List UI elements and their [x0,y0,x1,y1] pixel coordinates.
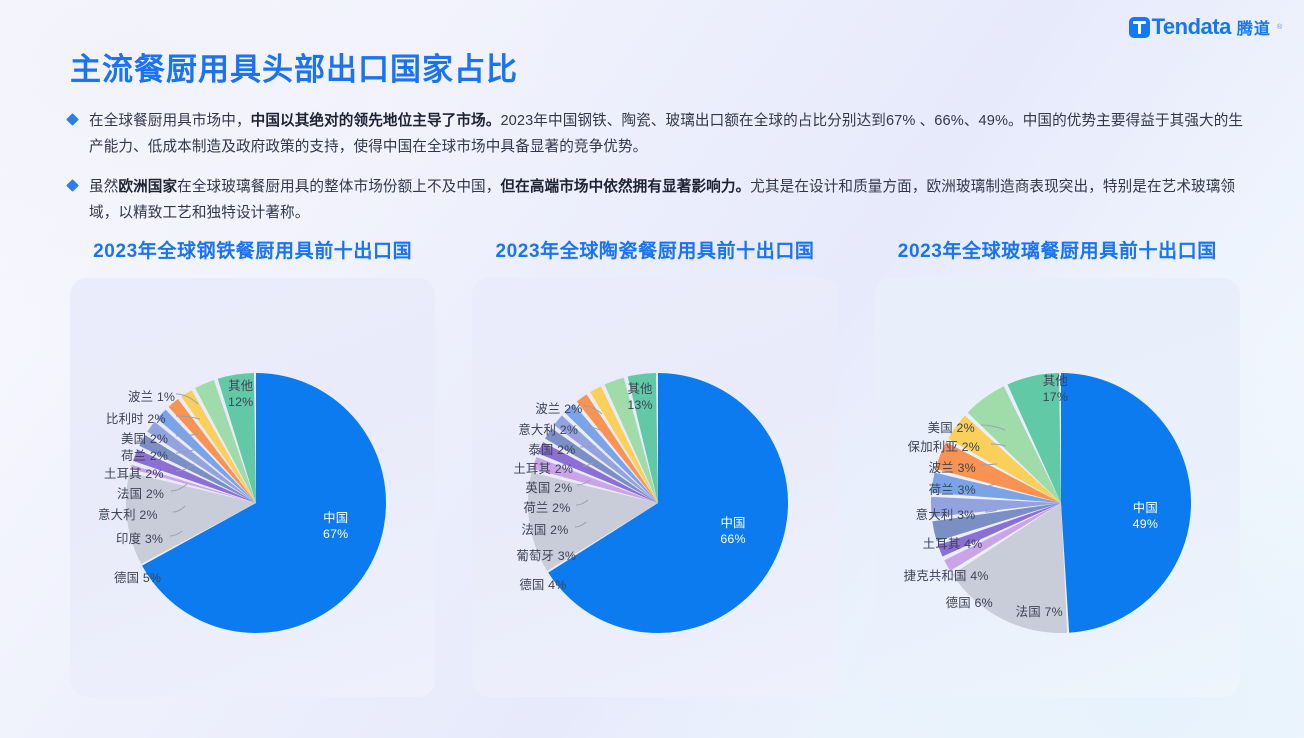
chart-column-1: 2023年全球钢铁餐厨用具前十出口国中国67%其他12%波兰 1%比利时 2%美… [70,236,435,697]
bullet-list: 在全球餐厨用具市场中，中国以其绝对的领先地位主导了市场。2023年中国钢铁、陶瓷… [68,108,1248,240]
pie-slice-label: 荷兰 3% [929,480,976,498]
pie-slice-label: 印度 3% [116,529,163,547]
bullet-emphasis: 但在高端市场中依然拥有显著影响力。 [500,179,750,195]
pie-label-name: 中国 [720,515,745,531]
pie-slice-label: 美国 2% [121,429,168,447]
page-title: 主流餐厨用具头部出口国家占比 [70,44,518,89]
pie-slice-label: 法国 2% [521,520,568,538]
pie-label-value: 66% [720,531,745,547]
pie-slice-label: 美国 2% [928,418,975,436]
pie-label-other: 其他12% [228,378,253,410]
chart-title: 2023年全球钢铁餐厨用具前十出口国 [70,236,435,263]
bullet-text: 虽然欧洲国家在全球玻璃餐厨用具的整体市场份额上不及中国，但在高端市场中依然拥有显… [89,174,1248,226]
pie-slice-label: 意大利 2% [98,505,158,523]
pie-chart-area: 中国67%其他12%波兰 1%比利时 2%美国 2%荷兰 2%土耳其 2%法国 … [70,278,435,697]
pie-slice-label: 法国 2% [117,484,164,502]
trademark-icon: ® [1277,24,1282,31]
bullet-plain: 虽然 [89,179,118,195]
pie-slice-label: 葡萄牙 3% [516,546,576,564]
pie-slice-label: 德国 4% [519,575,566,593]
bullet-plain: 在全球餐厨用具市场中， [89,113,251,129]
pie-chart-card: 中国49%其他17%美国 2%保加利亚 2%波兰 3%荷兰 3%意大利 3%土耳… [875,278,1240,697]
pie-slice[interactable] [1061,373,1191,633]
chart-column-2: 2023年全球陶瓷餐厨用具前十出口国中国66%其他13%波兰 2%意大利 2%泰… [472,236,837,697]
pie-chart-area: 中国49%其他17%美国 2%保加利亚 2%波兰 3%荷兰 3%意大利 3%土耳… [875,278,1240,697]
pie-slice-label: 泰国 2% [528,440,575,458]
pie-label-value: 13% [627,397,652,413]
chart-title: 2023年全球玻璃餐厨用具前十出口国 [875,236,1240,263]
pie-label-china: 中国67% [323,510,348,542]
pie-label-name: 中国 [1133,500,1158,516]
pie-label-china: 中国66% [720,515,745,547]
brand-logo: Tendata 腾道 ® [1129,14,1282,40]
pie-slice-label: 保加利亚 2% [908,437,980,455]
tendata-t-icon [1129,17,1150,38]
pie-slice-label: 英国 2% [525,478,572,496]
pie-slice-label: 捷克共和国 4% [904,566,989,584]
bullet-emphasis: 欧洲国家 [118,179,177,195]
pie-slice-label: 德国 6% [946,593,993,611]
pie-slice-label: 土耳其 4% [923,534,983,552]
chart-title: 2023年全球陶瓷餐厨用具前十出口国 [472,236,837,263]
pie-slice-label: 德国 5% [114,568,161,586]
pie-slice-label: 波兰 2% [535,399,582,417]
pie-slice-label: 荷兰 2% [523,498,570,516]
pie-label-name: 其他 [1043,373,1068,389]
pie-label-value: 67% [323,526,348,542]
diamond-bullet-icon [66,113,79,126]
pie-chart-card: 中国66%其他13%波兰 2%意大利 2%泰国 2%土耳其 2%英国 2%荷兰 … [472,278,837,697]
bullet-item: 虽然欧洲国家在全球玻璃餐厨用具的整体市场份额上不及中国，但在高端市场中依然拥有显… [68,174,1248,226]
pie-slice-label: 法国 7% [1016,602,1063,620]
brand-chinese-name: 腾道 [1237,15,1271,39]
pie-slice-label: 意大利 2% [518,420,578,438]
bullet-text: 在全球餐厨用具市场中，中国以其绝对的领先地位主导了市场。2023年中国钢铁、陶瓷… [89,108,1248,160]
brand-wordmark: Tendata [1152,14,1231,40]
pie-label-name: 其他 [627,381,652,397]
pie-chart-card: 中国67%其他12%波兰 1%比利时 2%美国 2%荷兰 2%土耳其 2%法国 … [70,278,435,697]
chart-column-3: 2023年全球玻璃餐厨用具前十出口国中国49%其他17%美国 2%保加利亚 2%… [875,236,1240,697]
pie-slice-label: 比利时 2% [106,409,166,427]
pie-slice-label: 意大利 3% [916,505,976,523]
bullet-plain: 在全球玻璃餐厨用具的整体市场份额上不及中国， [177,179,500,195]
pie-label-china: 中国49% [1133,500,1158,532]
pie-chart-area: 中国66%其他13%波兰 2%意大利 2%泰国 2%土耳其 2%英国 2%荷兰 … [472,278,837,697]
pie-slice-label: 荷兰 2% [121,446,168,464]
pie-slice-label: 波兰 3% [929,458,976,476]
pie-label-name: 中国 [323,510,348,526]
pie-label-value: 49% [1133,516,1158,532]
pie-slice-label: 波兰 1% [128,387,175,405]
pie-label-value: 17% [1043,389,1068,405]
pie-label-name: 其他 [228,378,253,394]
bullet-item: 在全球餐厨用具市场中，中国以其绝对的领先地位主导了市场。2023年中国钢铁、陶瓷… [68,108,1248,160]
pie-slice-label: 土耳其 2% [104,464,164,482]
diamond-bullet-icon [66,179,79,192]
pie-slice-label: 土耳其 2% [513,459,573,477]
pie-label-other: 其他17% [1043,373,1068,405]
pie-label-value: 12% [228,394,253,410]
chart-row: 2023年全球钢铁餐厨用具前十出口国中国67%其他12%波兰 1%比利时 2%美… [70,236,1240,697]
pie-label-other: 其他13% [627,381,652,413]
bullet-emphasis: 中国以其绝对的领先地位主导了市场。 [251,113,501,129]
